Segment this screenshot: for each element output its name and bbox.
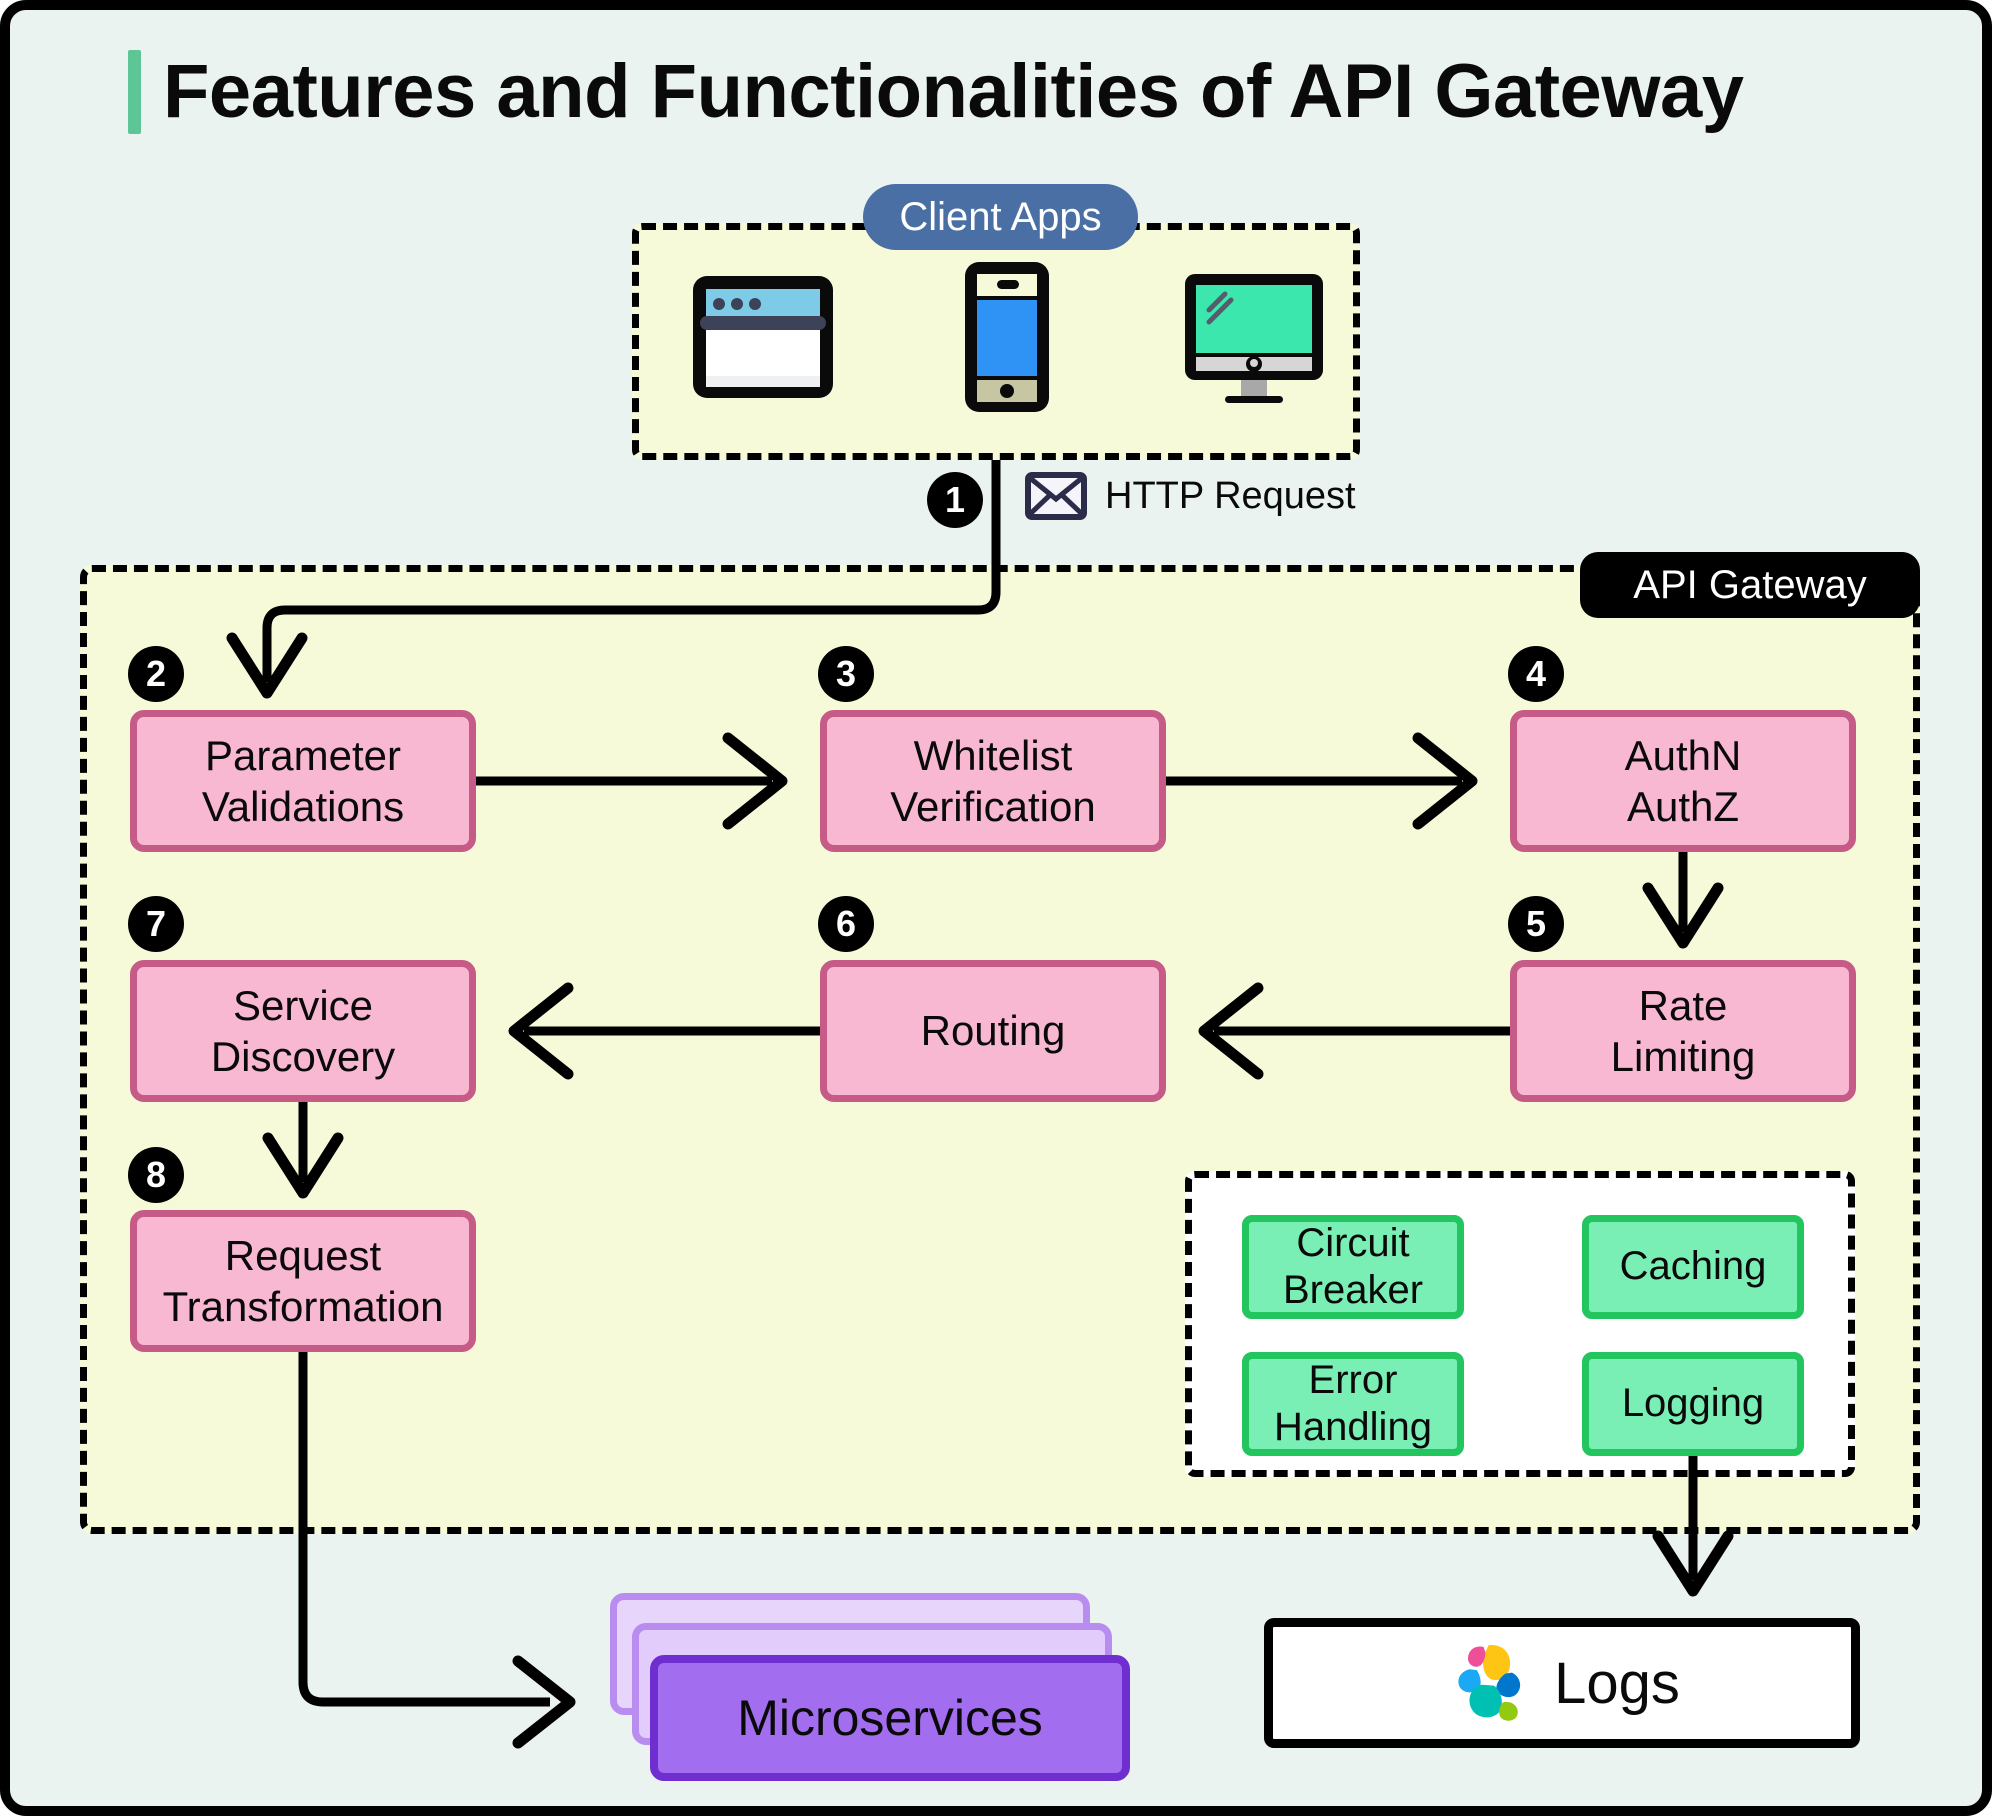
feature-label-line2: Breaker — [1283, 1268, 1423, 1312]
client-apps-container — [632, 223, 1360, 460]
step-label-line2: Verification — [890, 781, 1095, 832]
arrowhead-to-logs — [1658, 1536, 1728, 1591]
feature-box-error-handling[interactable]: Error Handling — [1242, 1352, 1464, 1456]
step-label-line2: Validations — [202, 781, 404, 832]
microservices-card-front[interactable]: Microservices — [650, 1655, 1130, 1781]
step-badge-6: 6 — [818, 896, 874, 952]
step-badge-7: 7 — [128, 896, 184, 952]
step-label-line2: AuthZ — [1625, 781, 1742, 832]
step-box-rate-limiting[interactable]: Rate Limiting — [1510, 960, 1856, 1102]
http-request-label: HTTP Request — [1105, 475, 1356, 518]
step-label-line2: Discovery — [211, 1031, 395, 1082]
step-label-line1: AuthN — [1625, 730, 1742, 781]
step-badge-3: 3 — [818, 646, 874, 702]
step-box-routing[interactable]: Routing — [820, 960, 1166, 1102]
microservices-label: Microservices — [737, 1689, 1043, 1747]
desktop-monitor-icon — [1175, 268, 1333, 408]
logs-label: Logs — [1554, 1650, 1680, 1717]
arrowhead-to-microservices — [518, 1661, 570, 1743]
page-title-text: Features and Functionalities of API Gate… — [163, 48, 1743, 135]
feature-label-line1: Caching — [1620, 1244, 1767, 1288]
client-apps-label: Client Apps — [863, 184, 1138, 250]
step-label-line2: Transformation — [163, 1281, 444, 1332]
step-badge-4: 4 — [1508, 646, 1564, 702]
feature-label-line1: Circuit — [1296, 1221, 1409, 1265]
step-label-line1: Request — [163, 1230, 444, 1281]
feature-label-line2: Handling — [1274, 1405, 1432, 1449]
http-request-marker: HTTP Request — [1025, 472, 1356, 520]
feature-box-logging[interactable]: Logging — [1582, 1352, 1804, 1456]
step-label-line1: Parameter — [202, 730, 404, 781]
step-label-line1: Whitelist — [890, 730, 1095, 781]
step-box-whitelist-verification[interactable]: Whitelist Verification — [820, 710, 1166, 852]
feature-label-line1: Error — [1309, 1358, 1398, 1402]
step-label-line2: Limiting — [1611, 1031, 1756, 1082]
feature-box-circuit-breaker[interactable]: Circuit Breaker — [1242, 1215, 1464, 1319]
browser-window-icon — [689, 272, 837, 402]
logs-box[interactable]: Logs — [1264, 1618, 1860, 1748]
elastic-logo-icon — [1444, 1640, 1530, 1726]
step-badge-2: 2 — [128, 646, 184, 702]
step-box-parameter-validations[interactable]: Parameter Validations — [130, 710, 476, 852]
diagram-canvas: Features and Functionalities of API Gate… — [0, 0, 1992, 1816]
step-box-authn-authz[interactable]: AuthN AuthZ — [1510, 710, 1856, 852]
microservices-stack[interactable]: Microservices — [610, 1593, 1130, 1793]
api-gateway-label: API Gateway — [1580, 552, 1920, 618]
step-badge-1: 1 — [927, 472, 983, 528]
envelope-icon — [1025, 472, 1087, 520]
step-badge-5: 5 — [1508, 896, 1564, 952]
feature-box-caching[interactable]: Caching — [1582, 1215, 1804, 1319]
step-box-request-transformation[interactable]: Request Transformation — [130, 1210, 476, 1352]
step-box-service-discovery[interactable]: Service Discovery — [130, 960, 476, 1102]
step-label-line1: Rate — [1611, 980, 1756, 1031]
feature-label-line1: Logging — [1622, 1381, 1764, 1425]
step-label-line1: Routing — [921, 1005, 1066, 1056]
step-label-line1: Service — [211, 980, 395, 1031]
title-accent-bar — [128, 50, 141, 134]
mobile-phone-icon — [961, 258, 1053, 416]
page-title: Features and Functionalities of API Gate… — [128, 48, 1743, 135]
step-badge-8: 8 — [128, 1147, 184, 1203]
